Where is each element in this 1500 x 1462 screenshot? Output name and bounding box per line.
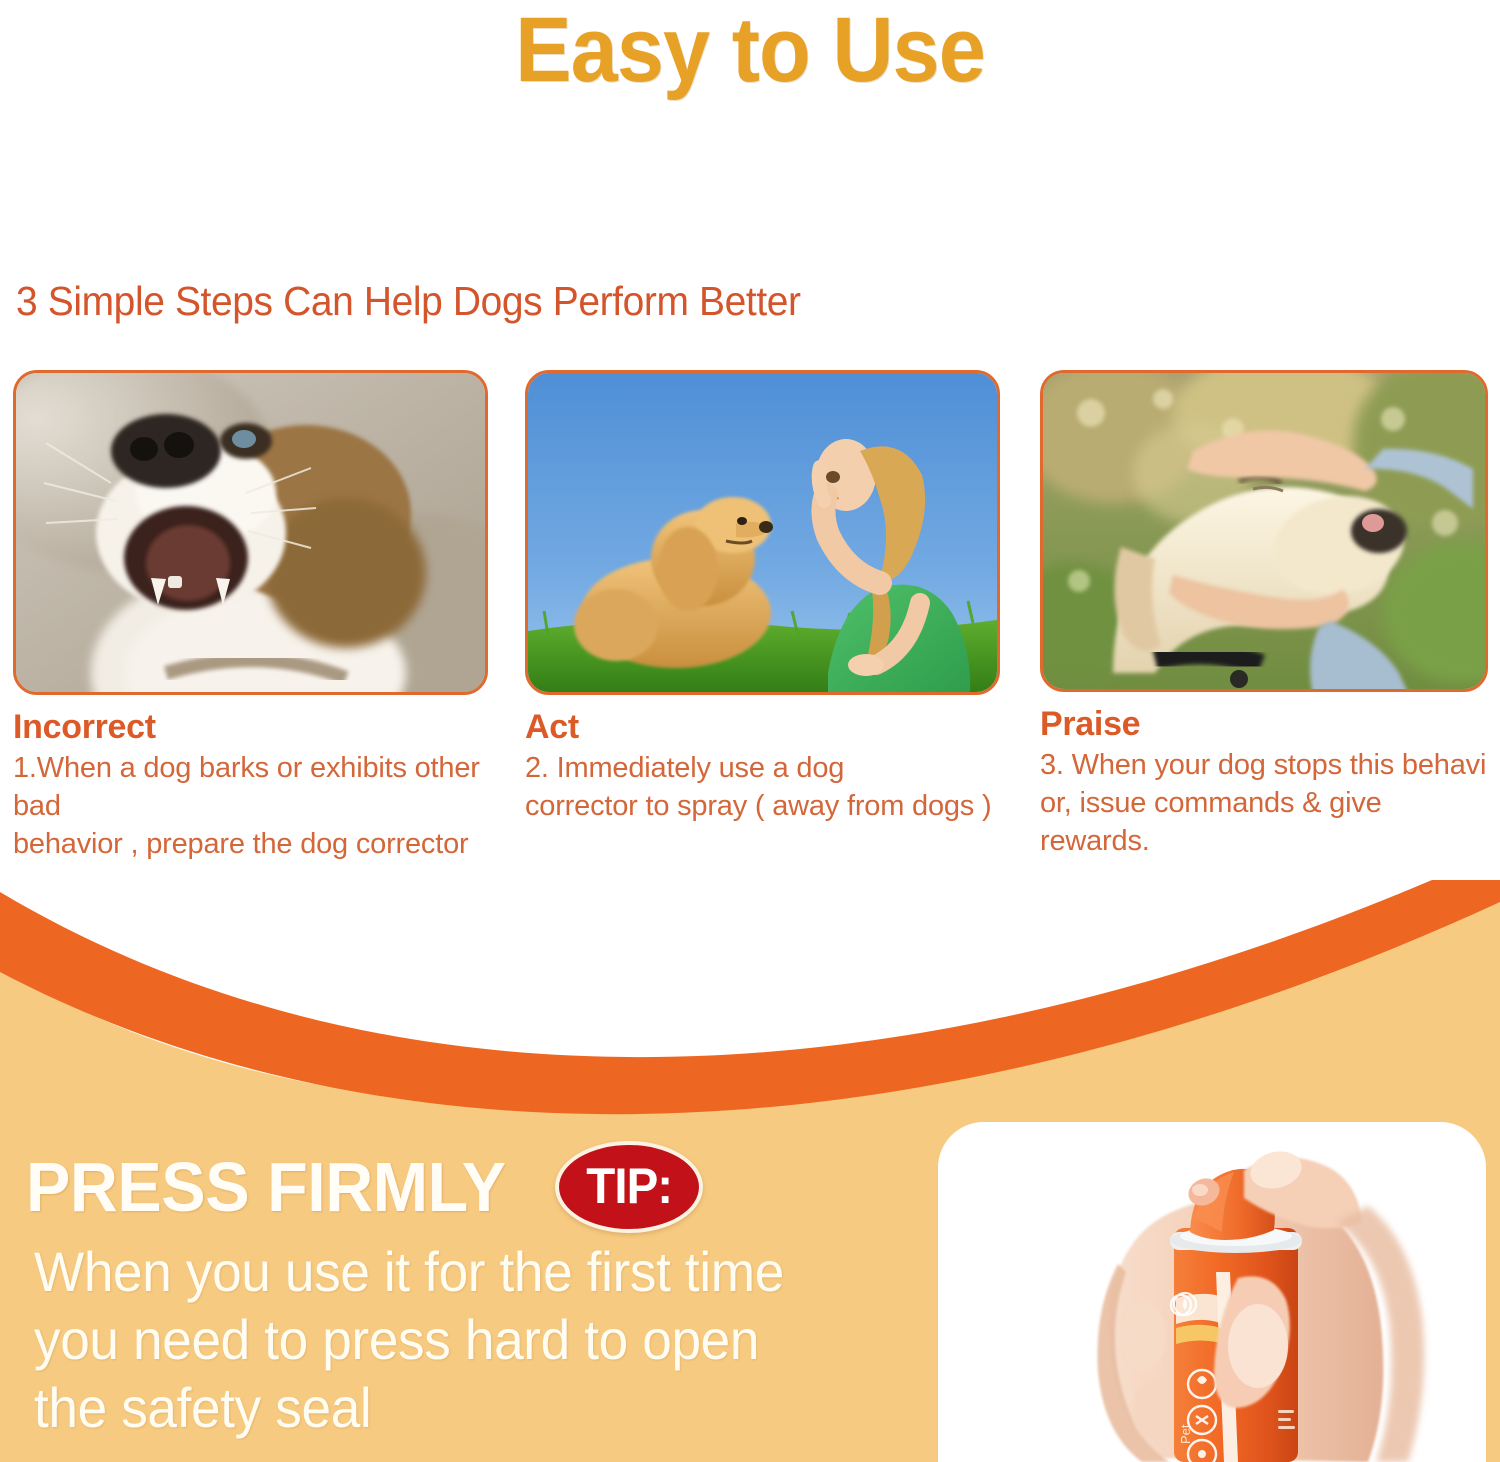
press-firmly-row: PRESS FIRMLY TIP: (26, 1141, 703, 1233)
step-body-line: 3. When your dog stops this behavi (1040, 746, 1488, 784)
step-heading: Praise (1040, 704, 1488, 744)
infographic-page: Easy to Use 3 Simple Steps Can Help Dogs… (0, 0, 1500, 1462)
step-body-line: 2. Immediately use a dog (525, 749, 1000, 787)
tip-badge-label: TIP: (586, 1161, 672, 1211)
press-firmly-heading: PRESS FIRMLY (26, 1149, 506, 1225)
step-body: 2. Immediately use a dog corrector to sp… (525, 749, 1000, 825)
step-card-praise: Praise 3. When your dog stops this behav… (1040, 370, 1488, 860)
step-photo-frame-1 (13, 370, 488, 695)
tip-body-text: When you use it for the first time you n… (34, 1238, 870, 1442)
step-card-incorrect: Incorrect 1.When a dog barks or exhibits… (13, 370, 488, 863)
step-photo-frame-3 (1040, 370, 1488, 692)
tip-body-line: the safety seal (34, 1374, 870, 1442)
spray-can-in-hand-photo: Pet (938, 1122, 1486, 1462)
barking-dog-photo (16, 373, 485, 692)
tip-body-line: you need to press hard to open (34, 1306, 870, 1374)
page-title: Easy to Use (60, 2, 1440, 98)
step-card-act: Act 2. Immediately use a dog corrector t… (525, 370, 1000, 825)
step-heading: Act (525, 707, 1000, 747)
step-body-line: corrector to spray ( away from dogs ) (525, 787, 1000, 825)
step-body-line: 1.When a dog barks or exhibits other bad (13, 749, 488, 825)
tip-badge: TIP: (555, 1141, 703, 1233)
step-body-line: behavior , prepare the dog corrector (13, 825, 488, 863)
step-heading: Incorrect (13, 707, 488, 747)
petting-labrador-photo (1043, 373, 1485, 689)
tip-body-line: When you use it for the first time (34, 1238, 870, 1306)
svg-text:Pet: Pet (1178, 1424, 1193, 1444)
product-photo-panel: Pet (938, 1122, 1486, 1462)
step-body: 3. When your dog stops this behavi or, i… (1040, 746, 1488, 860)
step-photo-frame-2 (525, 370, 1000, 695)
step-body: 1.When a dog barks or exhibits other bad… (13, 749, 488, 863)
page-subtitle: 3 Simple Steps Can Help Dogs Perform Bet… (16, 277, 801, 325)
steps-container: Incorrect 1.When a dog barks or exhibits… (0, 370, 1500, 870)
woman-training-dog-photo (528, 373, 997, 692)
step-body-line: or, issue commands & give rewards. (1040, 784, 1488, 860)
